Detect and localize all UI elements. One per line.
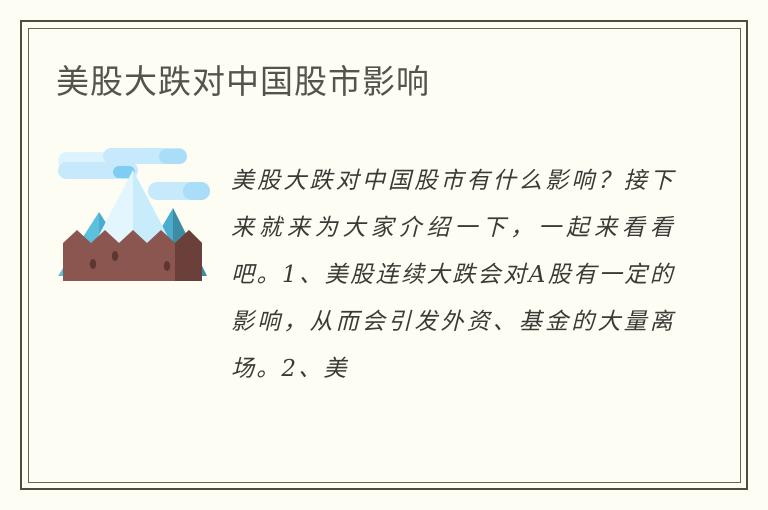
article-card: 美股大跌对中国股市影响 xyxy=(0,0,768,510)
article-body-text: 美股大跌对中国股市有什么影响？接下来就来为大家介绍一下，一起来看看吧。1、美股连… xyxy=(231,158,675,393)
mountain-illustration xyxy=(55,148,210,293)
page-title: 美股大跌对中国股市影响 xyxy=(56,62,430,102)
rock-base xyxy=(63,230,202,281)
